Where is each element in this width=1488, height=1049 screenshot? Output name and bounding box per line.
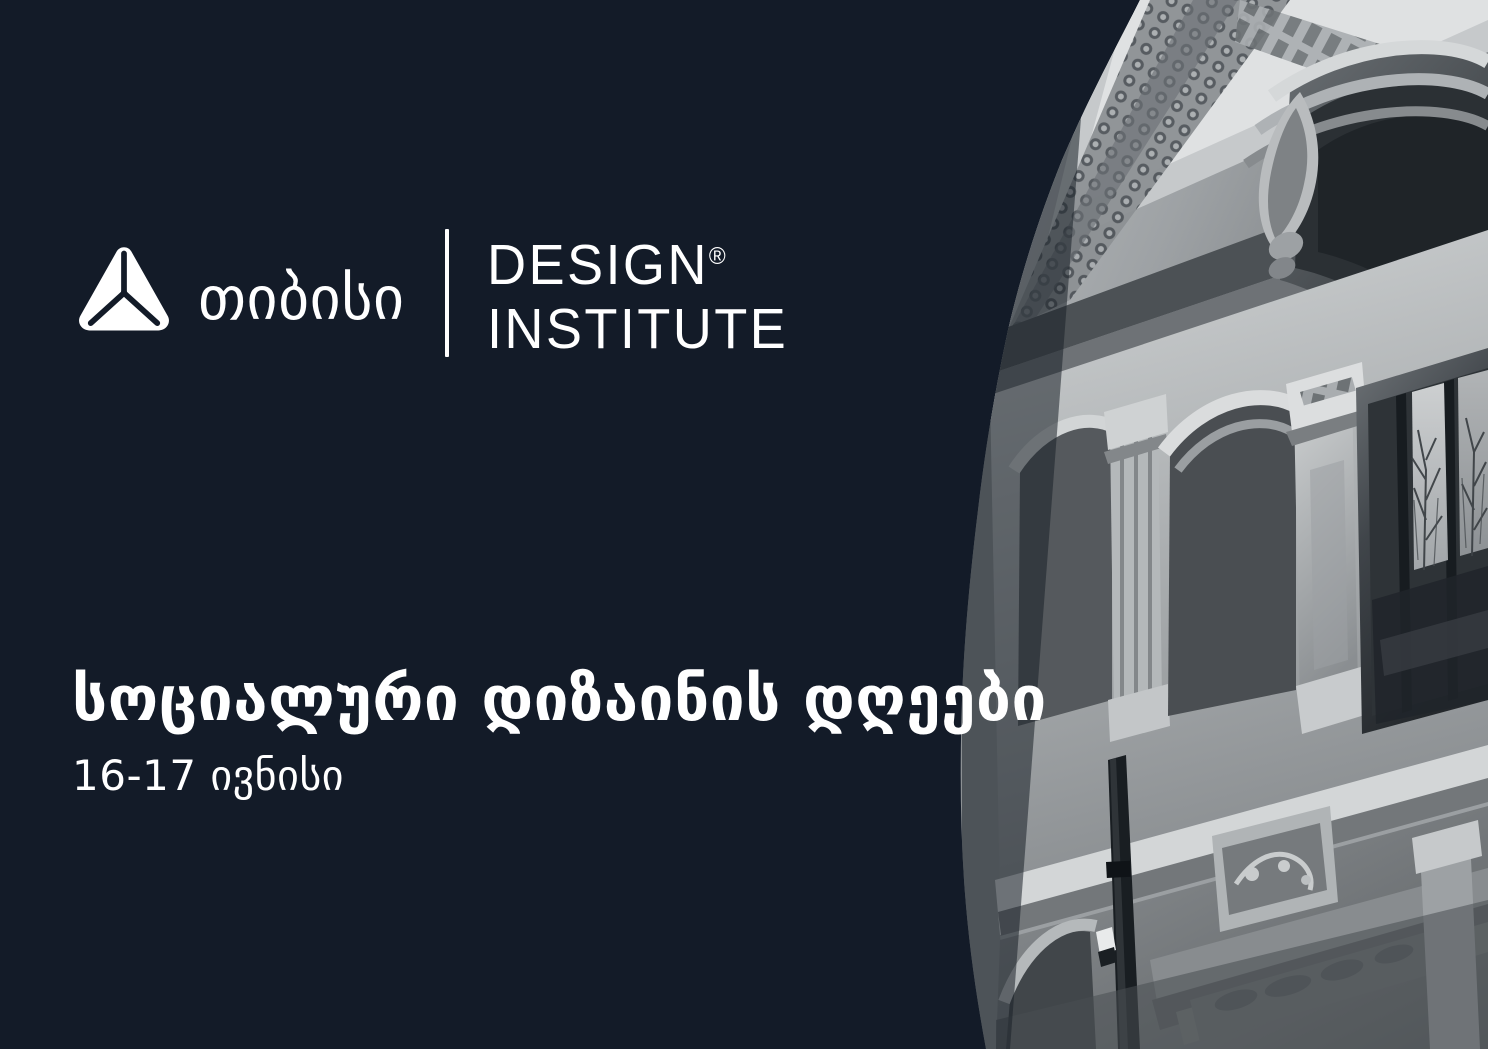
logo-lockup: თიბისი DESIGN® INSTITUTE	[72, 228, 804, 358]
poster-content: თიბისი DESIGN® INSTITUTE სოციალური დიზაი…	[0, 0, 1488, 1049]
poster-canvas: თიბისი DESIGN® INSTITUTE სოციალური დიზაი…	[0, 0, 1488, 1049]
tbc-triangle-logo-icon	[72, 241, 176, 345]
institute-line-design: DESIGN®	[487, 225, 788, 297]
institute-name: DESIGN® INSTITUTE	[487, 225, 804, 361]
headline-block: სოციალური დიზაინის დღეები 16-17 ივნისი	[72, 662, 1072, 802]
logo-divider	[445, 229, 449, 357]
brand-wordmark: თიბისი	[198, 269, 405, 329]
event-date: 16-17 ივნისი	[72, 750, 1072, 802]
design-text: DESIGN	[487, 233, 709, 297]
institute-line-institute: INSTITUTE	[487, 297, 788, 361]
event-title: სოციალური დიზაინის დღეები	[72, 662, 1072, 736]
registered-mark-icon: ®	[708, 243, 725, 270]
